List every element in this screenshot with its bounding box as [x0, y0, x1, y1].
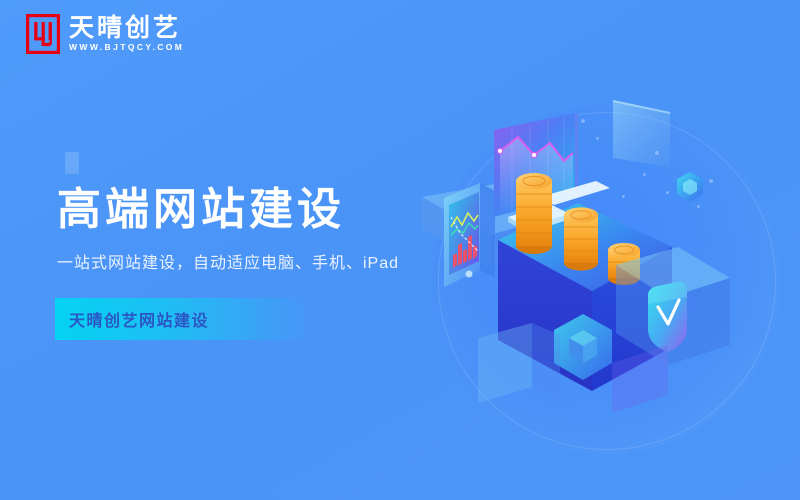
ambient-dot — [709, 179, 713, 183]
ambient-dot — [697, 205, 700, 208]
logo-brand-name: 天晴创艺 — [69, 16, 184, 41]
hero-copy-block: 高端网站建设 一站式网站建设，自动适应电脑、手机、iPad — [57, 152, 399, 275]
site-logo[interactable]: 天晴创艺 WWW.BJTQCY.COM — [26, 14, 184, 54]
hero-illustration — [400, 95, 800, 500]
hexagon-cube-icon-small — [677, 172, 703, 202]
floating-panel-icon — [613, 100, 670, 167]
page-title: 高端网站建设 — [57, 152, 399, 234]
tablet-bar-chart — [444, 183, 495, 287]
hero-banner: 天晴创艺 WWW.BJTQCY.COM 高端网站建设 一站式网站建设，自动适应电… — [0, 0, 800, 500]
ambient-dot — [655, 151, 659, 155]
ambient-dot — [596, 137, 599, 140]
lower-left-platform — [478, 323, 560, 403]
ambient-dot — [666, 191, 669, 194]
decorative-square — [65, 152, 79, 174]
shield-check-icon — [648, 282, 687, 352]
cta-banner-button[interactable]: 天晴创艺网站建设 — [55, 298, 345, 340]
hero-subtitle: 一站式网站建设，自动适应电脑、手机、iPad — [57, 234, 399, 275]
cta-label: 天晴创艺网站建设 — [55, 307, 209, 331]
ambient-dot — [622, 195, 625, 198]
ambient-dot — [643, 173, 646, 176]
logo-website-url: WWW.BJTQCY.COM — [69, 43, 184, 52]
logo-text-group: 天晴创艺 WWW.BJTQCY.COM — [69, 16, 184, 52]
ambient-dot — [581, 119, 585, 123]
logo-mark-icon — [26, 14, 60, 54]
